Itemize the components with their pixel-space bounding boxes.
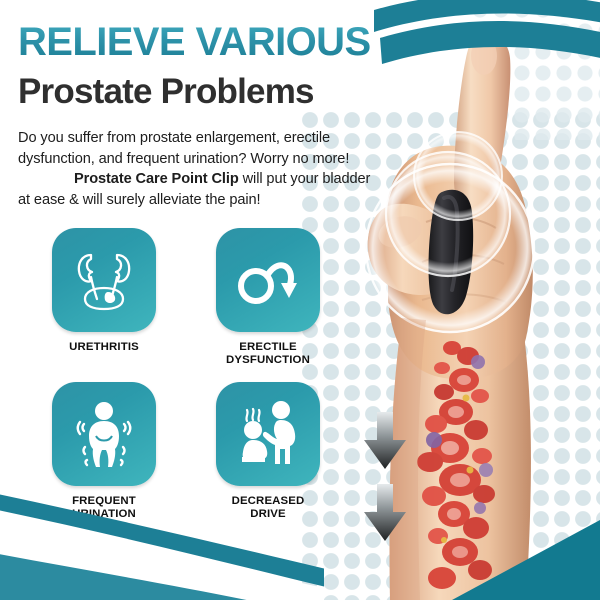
ripple-rings [366, 132, 534, 332]
person-holding-urge-icon [72, 400, 136, 468]
headline: RELIEVE VARIOUS [18, 22, 371, 62]
feature-label: URETHRITIS [52, 341, 156, 354]
feature-label: ERECTILE DYSFUNCTION [216, 341, 320, 368]
product-name: Prostate Care Point Clip [74, 171, 239, 187]
feature-tile [52, 228, 156, 332]
body-line-2: dysfunction, and frequent urination? Wor… [18, 151, 349, 167]
couple-low-libido-icon [234, 401, 302, 467]
down-arrows-group [362, 412, 408, 542]
feature-label: DECREASED DRIVE [216, 495, 320, 522]
feature-erectile-dysfunction: ERECTILE DYSFUNCTION [216, 228, 320, 368]
down-arrow-icon-2 [362, 484, 408, 542]
male-symbol-drooping-arrow-icon [236, 252, 300, 308]
body-line-1: Do you suffer from prostate enlargement,… [18, 130, 330, 146]
feature-tile [216, 228, 320, 332]
feature-urethritis: URETHRITIS [52, 228, 156, 368]
body-line-3: will put your bladder [239, 171, 371, 187]
feature-frequent-urination: FREQUENT URINATION [52, 382, 156, 522]
body-line-4: at ease & will surely alleviate the pain… [18, 192, 261, 208]
kidneys-bladder-icon [73, 247, 135, 313]
feature-grid: URETHRITIS ERECTILE DYSFUNCTION [52, 228, 320, 522]
feature-label: FREQUENT URINATION [52, 495, 156, 522]
advertisement-canvas: RELIEVE VARIOUS Prostate Problems Do you… [0, 0, 600, 600]
subheadline: Prostate Problems [18, 74, 314, 109]
down-arrow-icon-1 [362, 412, 408, 470]
feature-tile [52, 382, 156, 486]
body-copy: Do you suffer from prostate enlargement,… [18, 128, 388, 211]
feature-decreased-drive: DECREASED DRIVE [216, 382, 320, 522]
feature-tile [216, 382, 320, 486]
